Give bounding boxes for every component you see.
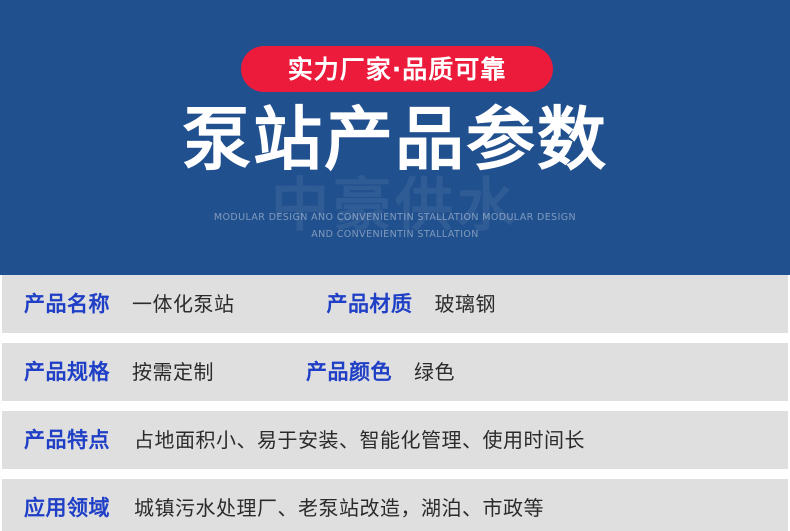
spec-table: 产品名称 一体化泵站 产品材质 玻璃钢 产品规格 按需定制 产品颜色 绿色 产品… [0,275,790,531]
product-spec-banner: 中豪供水 实力厂家·品质可靠 泵站产品参数 MODULAR DESIGN ANO… [0,0,790,531]
page-title: 泵站产品参数 [0,104,790,176]
spec-cell: 应用领域 城镇污水处理厂、老泵站改造，湖泊、市政等 [24,498,544,519]
spec-value: 按需定制 [132,362,214,382]
table-row: 产品名称 一体化泵站 产品材质 玻璃钢 [2,275,788,333]
hero-banner: 中豪供水 实力厂家·品质可靠 泵站产品参数 MODULAR DESIGN ANO… [0,0,790,275]
spec-cell: 产品规格 按需定制 [24,362,214,383]
spec-value: 占地面积小、易于安装、智能化管理、使用时间长 [134,430,585,450]
spec-label: 应用领域 [24,498,110,519]
hero-subtitle: MODULAR DESIGN ANO CONVENIENTIN STALLATI… [195,210,595,243]
spec-value: 一体化泵站 [132,294,235,314]
spec-cell: 产品名称 一体化泵站 [24,294,235,315]
spec-label: 产品材质 [327,294,413,315]
spec-value: 绿色 [414,362,455,382]
spec-label: 产品规格 [24,362,110,383]
spec-value: 城镇污水处理厂、老泵站改造，湖泊、市政等 [134,498,544,518]
hero-subtitle-line-1: MODULAR DESIGN ANO CONVENIENTIN STALLATI… [195,210,595,227]
spec-cell: 产品颜色 绿色 [306,362,455,383]
spec-label: 产品名称 [24,294,110,315]
hero-subtitle-line-2: AND CONVENIENTIN STALLATION [195,227,595,244]
spec-value: 玻璃钢 [435,294,497,314]
table-row: 应用领域 城镇污水处理厂、老泵站改造，湖泊、市政等 [2,479,788,531]
quality-badge-label: 实力厂家·品质可靠 [288,57,507,82]
spec-label: 产品颜色 [306,362,392,383]
spec-cell: 产品特点 占地面积小、易于安装、智能化管理、使用时间长 [24,430,585,451]
spec-cell: 产品材质 玻璃钢 [327,294,497,315]
table-row: 产品规格 按需定制 产品颜色 绿色 [2,343,788,401]
table-row: 产品特点 占地面积小、易于安装、智能化管理、使用时间长 [2,411,788,469]
quality-badge: 实力厂家·品质可靠 [241,46,553,92]
spec-label: 产品特点 [24,430,110,451]
